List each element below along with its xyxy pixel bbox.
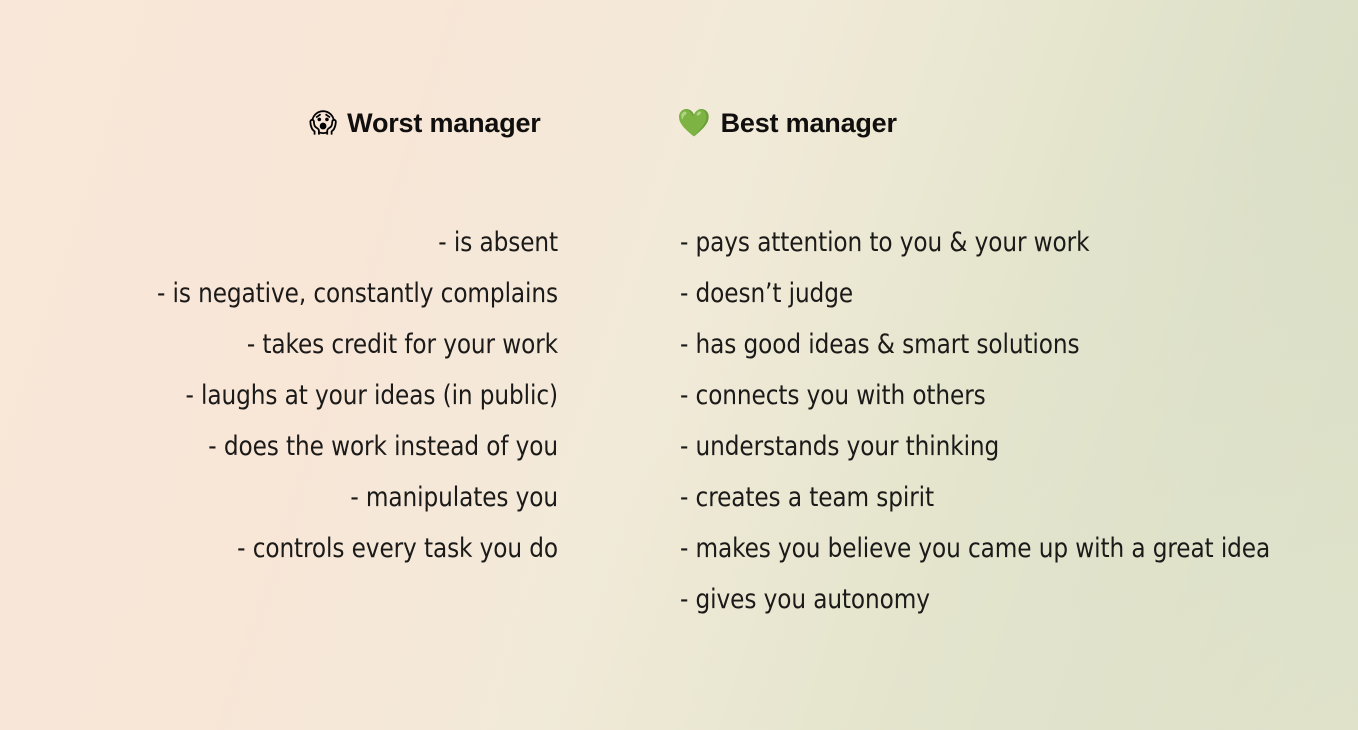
list-item: - has good ideas & smart solutions — [680, 328, 1291, 379]
list-item: - pays attention to you & your work — [680, 226, 1291, 277]
list-item: - takes credit for your work — [82, 328, 558, 379]
list-item: - gives you autonomy — [680, 583, 1291, 634]
green-heart-emoji: 💚 — [677, 110, 711, 137]
list-item: - is negative, constantly complains — [82, 277, 558, 328]
column-heading-worst: 😱 Worst manager — [309, 108, 541, 139]
comparison-poster: 😱 Worst manager 💚 Best manager - is abse… — [0, 0, 1358, 730]
list-item: - does the work instead of you — [82, 430, 558, 481]
column-headings: 😱 Worst manager 💚 Best manager — [0, 108, 1358, 152]
list-item: - manipulates you — [82, 481, 558, 532]
worst-manager-list: - is absent - is negative, constantly co… — [60, 226, 558, 583]
list-item: - laughs at your ideas (in public) — [82, 379, 558, 430]
list-item: - doesn’t judge — [680, 277, 1291, 328]
list-item: - creates a team spirit — [680, 481, 1291, 532]
column-title-best: Best manager — [721, 108, 897, 139]
best-manager-list: - pays attention to you & your work - do… — [680, 226, 1320, 634]
face-screaming-in-fear-emoji: 😱 — [309, 110, 337, 137]
column-title-worst: Worst manager — [347, 108, 540, 139]
list-item: - is absent — [82, 226, 558, 277]
list-item: - connects you with others — [680, 379, 1291, 430]
list-item: - understands your thinking — [680, 430, 1291, 481]
column-heading-best: 💚 Best manager — [677, 108, 897, 139]
list-item: - makes you believe you came up with a g… — [680, 532, 1291, 583]
list-item: - controls every task you do — [82, 532, 558, 583]
